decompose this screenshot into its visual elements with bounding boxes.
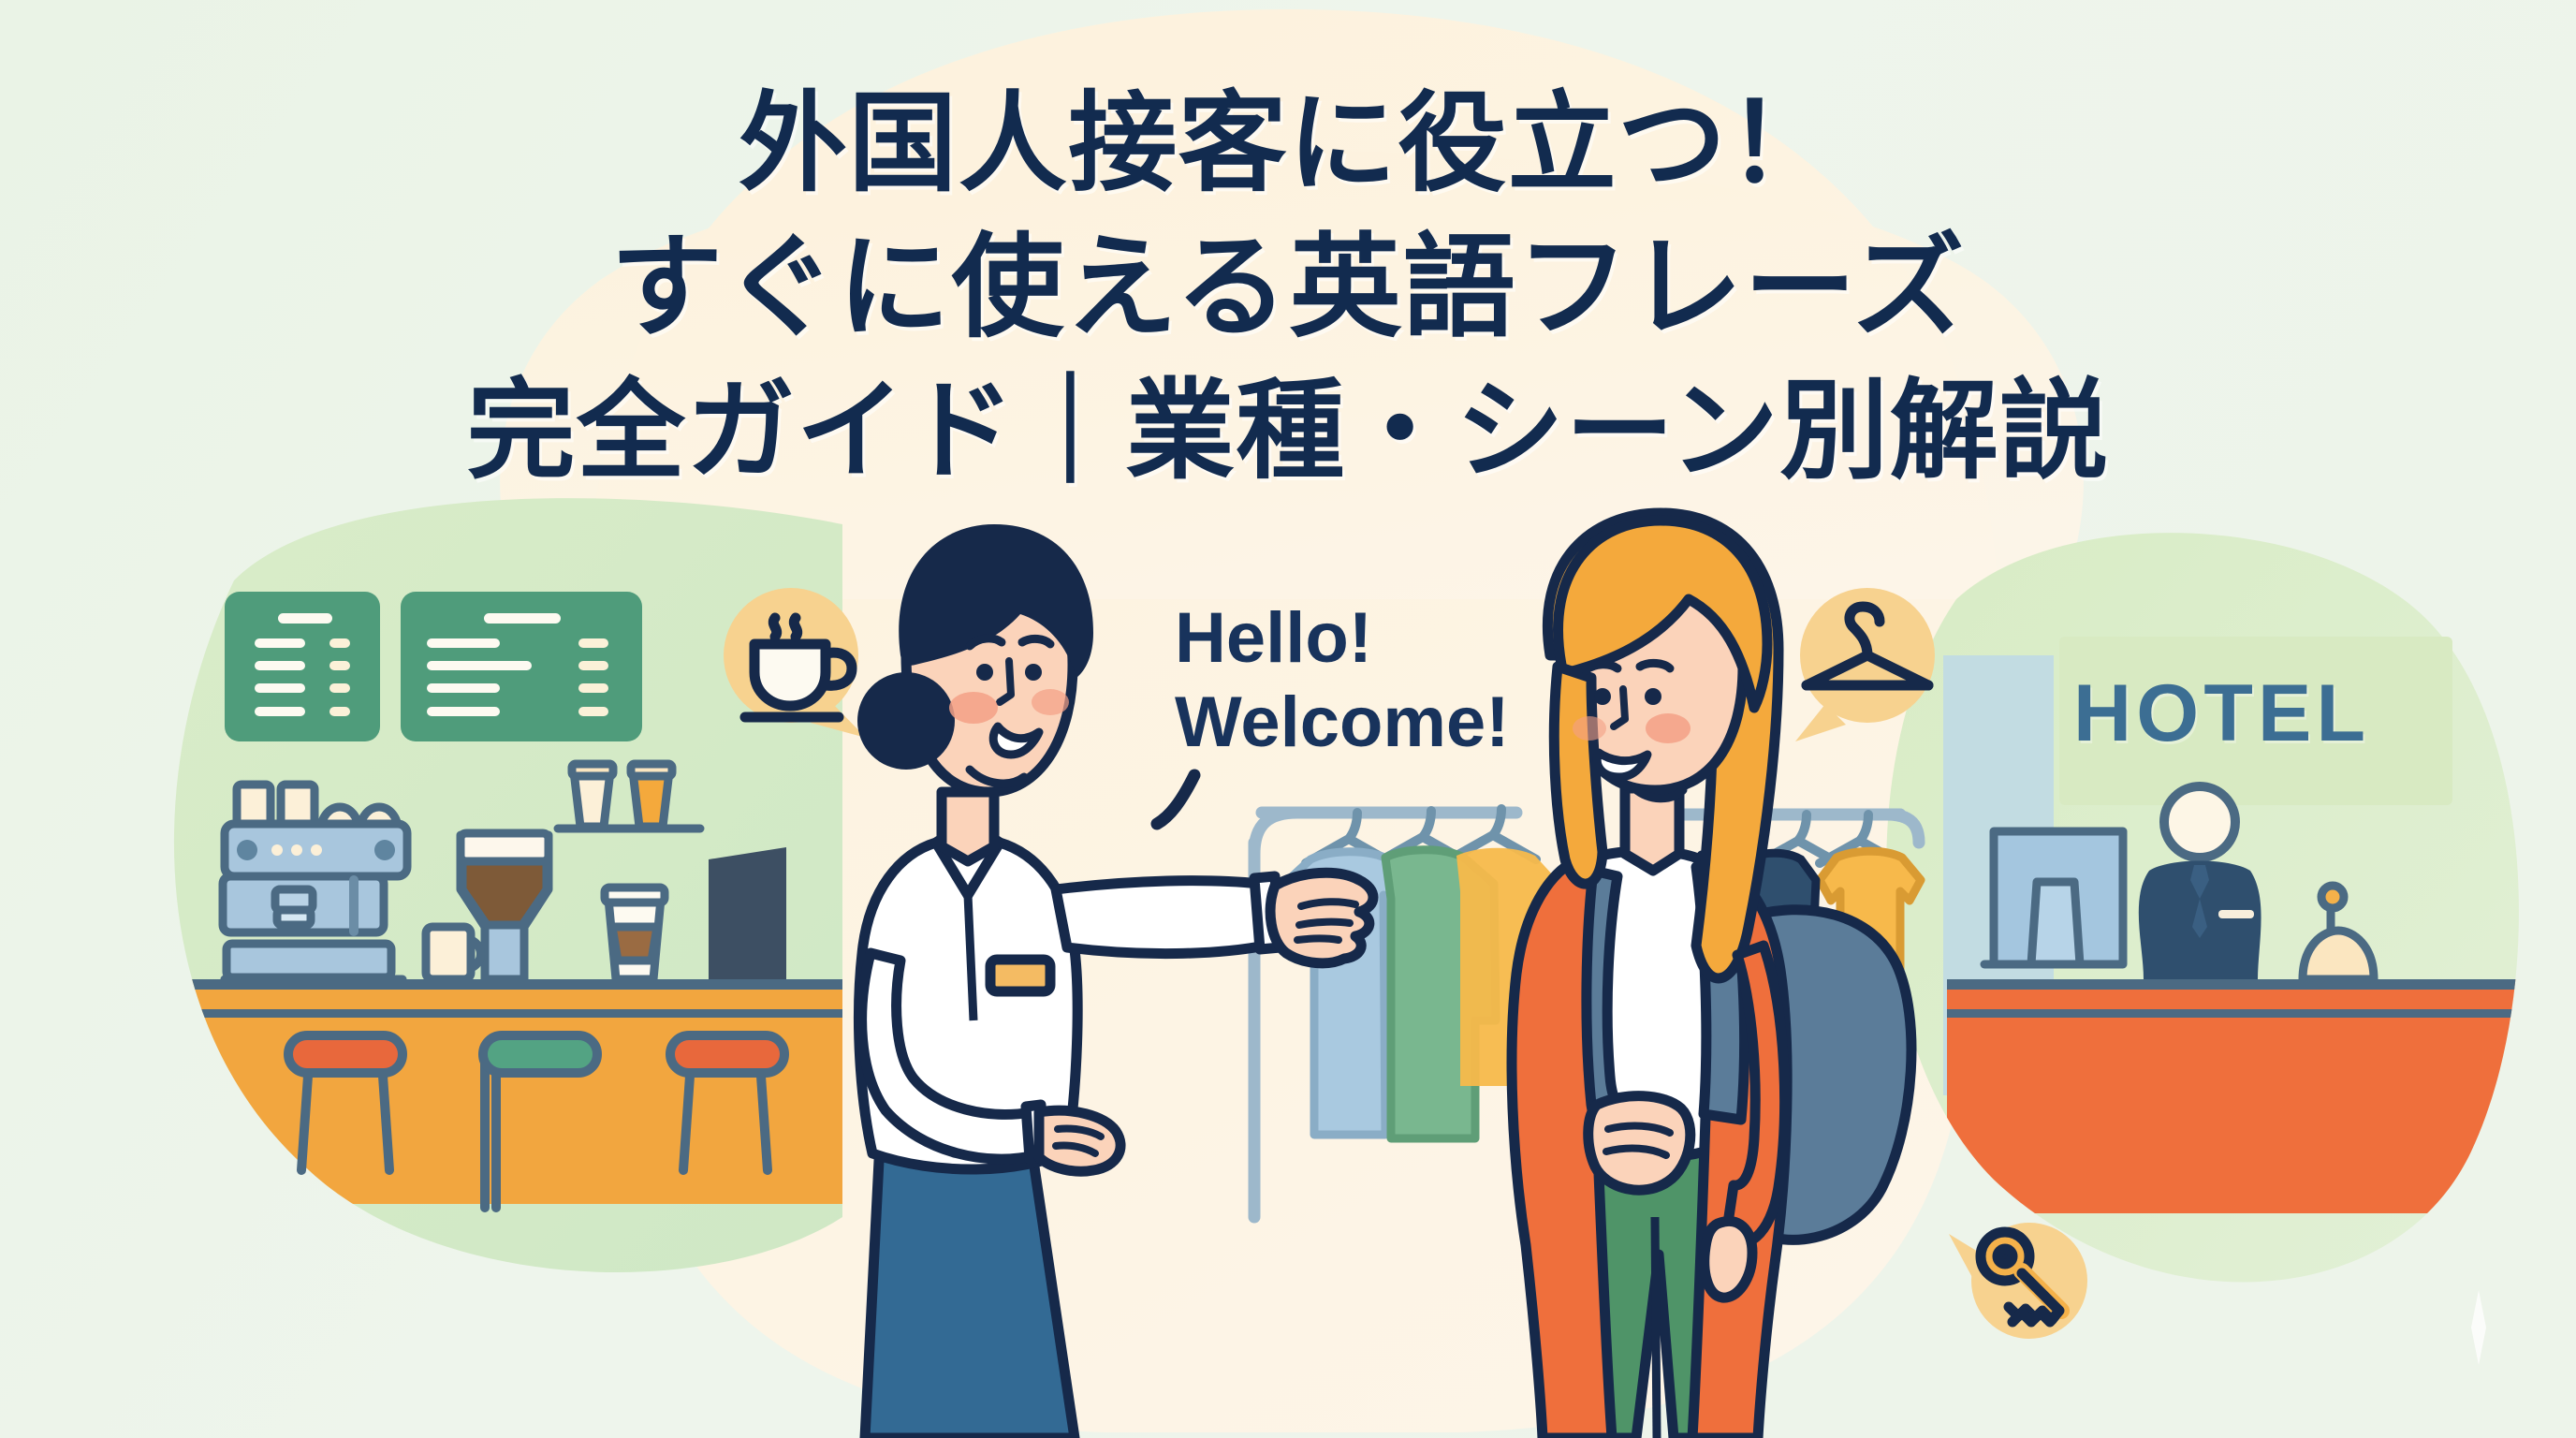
staff-hair-bun [857,672,955,770]
pos-terminal [709,847,786,979]
reception-desk [1947,979,2546,1213]
staff-eye-left [976,664,993,681]
staff-hand-left [1039,1110,1120,1171]
tourist-blush-right [1646,713,1690,743]
tourist-hand-strap [1588,1096,1690,1191]
staff-arm-right [1056,881,1266,954]
menu-board-right [401,592,642,741]
tourist-eye-left [1594,688,1611,705]
staff-name-badge [990,960,1050,991]
reception-monitor [1984,831,2123,964]
espresso-machine [223,785,407,979]
tourist-hand-right [1705,1221,1752,1298]
staff-blush-right [1032,689,1069,715]
staff-neck [942,792,994,861]
tourist-blush-left [1573,716,1606,741]
illustration-canvas [0,0,2576,1438]
tourist-eye-right [1645,688,1661,705]
menu-board-left [225,592,380,741]
staff-eye-right [1025,664,1042,681]
takeaway-cup [605,888,665,979]
hero-banner: 外国人接客に役立つ！ すぐに使える英語フレーズ 完全ガイド｜業種・シーン別解説 … [0,0,2576,1438]
hotel-wall-panel [2059,637,2452,805]
staff-blush-left [949,692,998,724]
coffee-mug [426,927,480,979]
staff-hand [1270,873,1373,963]
